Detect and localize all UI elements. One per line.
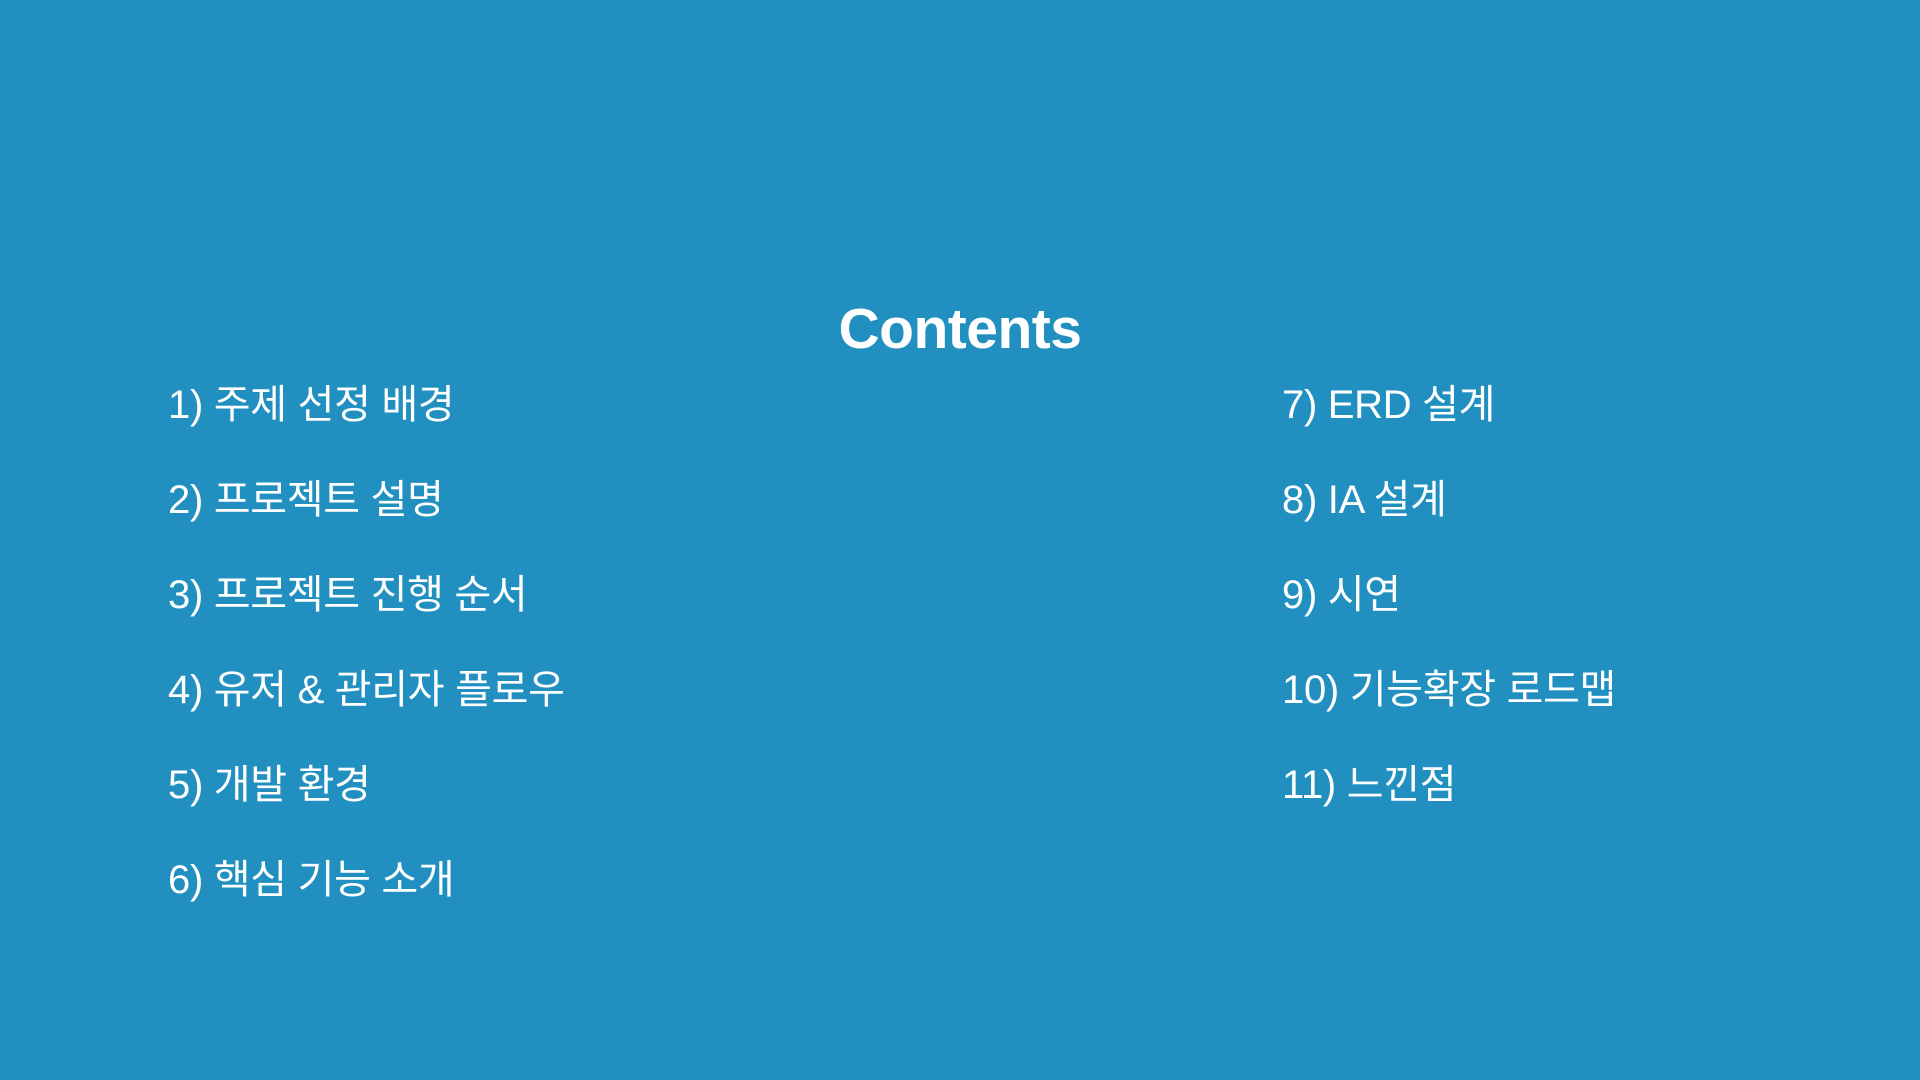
presentation-slide: Contents 1) 주제 선정 배경 2) 프로젝트 설명 3) 프로젝트 … bbox=[0, 0, 1920, 1080]
toc-item[interactable]: 11) 느낀점 bbox=[1282, 765, 1616, 805]
toc-item[interactable]: 6) 핵심 기능 소개 bbox=[168, 860, 565, 900]
toc-item[interactable]: 3) 프로젝트 진행 순서 bbox=[168, 575, 565, 670]
toc-item[interactable]: 9) 시연 bbox=[1282, 575, 1616, 670]
toc-item[interactable]: 1) 주제 선정 배경 bbox=[168, 385, 565, 480]
toc-item[interactable]: 8) IA 설계 bbox=[1282, 480, 1616, 575]
toc-item[interactable]: 7) ERD 설계 bbox=[1282, 385, 1616, 480]
toc-column-left: 1) 주제 선정 배경 2) 프로젝트 설명 3) 프로젝트 진행 순서 4) … bbox=[168, 385, 565, 900]
toc-item[interactable]: 2) 프로젝트 설명 bbox=[168, 480, 565, 575]
toc-item[interactable]: 10) 기능확장 로드맵 bbox=[1282, 670, 1616, 765]
page-title: Contents bbox=[0, 301, 1920, 358]
toc-item[interactable]: 5) 개발 환경 bbox=[168, 765, 565, 860]
toc-item[interactable]: 4) 유저 & 관리자 플로우 bbox=[168, 670, 565, 765]
toc-column-right: 7) ERD 설계 8) IA 설계 9) 시연 10) 기능확장 로드맵 11… bbox=[1282, 385, 1616, 805]
